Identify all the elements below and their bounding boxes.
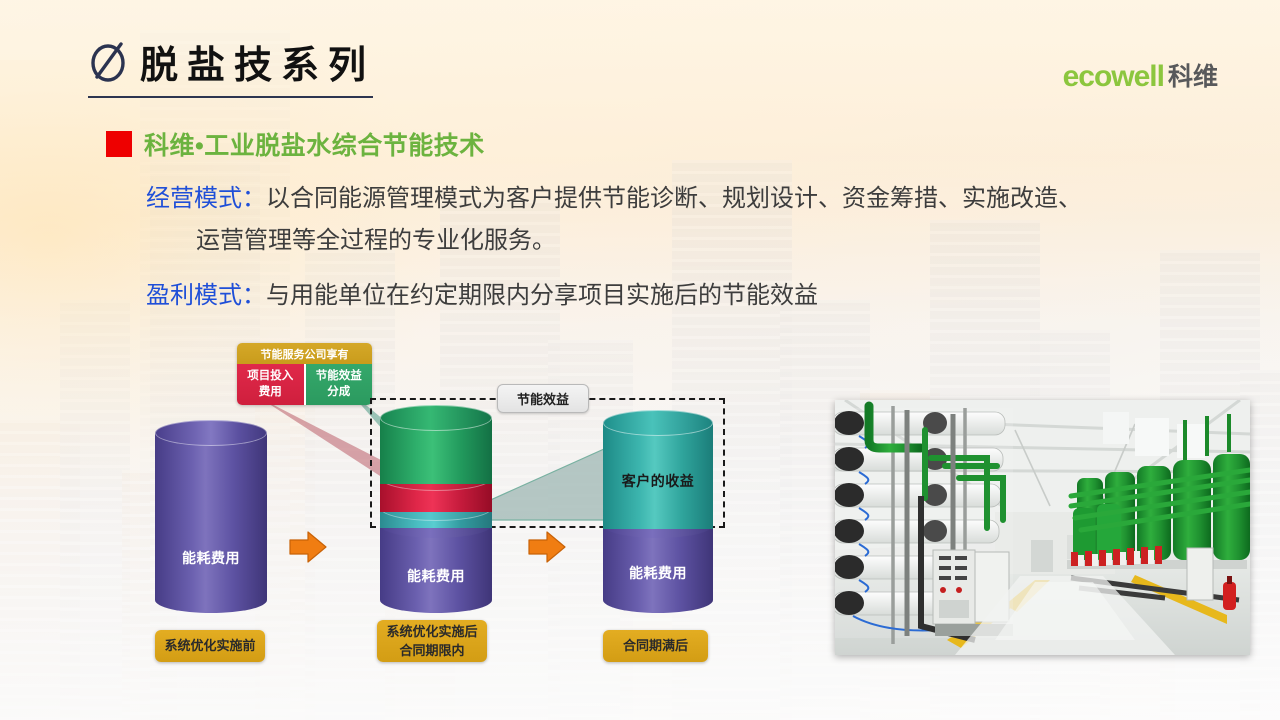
title-underline bbox=[88, 96, 373, 98]
caption-line1: 系统优化实施后 bbox=[386, 622, 477, 642]
paragraph-business-model: 经营模式：以合同能源管理模式为客户提供节能诊断、规划设计、资金筹措、实施改造、 bbox=[146, 180, 1082, 217]
circle-slash-icon bbox=[88, 38, 130, 84]
cylinder-label-energy-cost: 能耗费用 bbox=[380, 566, 492, 586]
legend-cells: 项目投入 费用 节能效益 分成 bbox=[237, 364, 372, 405]
legend-cell-line1: 项目投入 bbox=[247, 369, 293, 385]
logo-text-cn: 科维 bbox=[1168, 65, 1218, 90]
cylinder-segment-energy-cost bbox=[155, 433, 267, 613]
label-profit-model: 盈利模式 bbox=[146, 282, 242, 309]
cylinder-segment-savings-share bbox=[380, 418, 492, 484]
cylinder-before-optimization: 能耗费用 bbox=[155, 433, 267, 613]
region-label-energy-savings: 节能效益 bbox=[497, 384, 589, 413]
legend-cell-line2: 分成 bbox=[327, 385, 350, 401]
page-title: 脱盐技系列 bbox=[140, 34, 375, 89]
legend-cell-project-investment: 项目投入 费用 bbox=[237, 364, 306, 405]
arrow-right-icon bbox=[527, 530, 567, 564]
text-profit-model: 与用能单位在约定期限内分享项目实施后的节能效益 bbox=[266, 282, 818, 309]
plant-photo-image bbox=[835, 400, 1250, 655]
legend-cell-line1: 节能效益 bbox=[316, 369, 362, 385]
plant-photo bbox=[835, 400, 1250, 655]
legend-cell-line2: 费用 bbox=[259, 385, 282, 401]
cylinder-after-contract: 客户的收益 能耗费用 bbox=[603, 423, 713, 613]
cylinder-label-energy-cost: 能耗费用 bbox=[603, 563, 713, 583]
colon-2: ： bbox=[242, 282, 266, 309]
section-title: 科维•工业脱盐水综合节能技术 bbox=[144, 126, 485, 162]
caption-during-contract: 系统优化实施后 合同期限内 bbox=[377, 620, 487, 662]
logo-text-en: ecowell bbox=[1063, 62, 1164, 92]
red-square-bullet-icon bbox=[106, 131, 132, 157]
paragraph-business-model-line2: 运营管理等全过程的专业化服务。 bbox=[196, 222, 556, 259]
caption-after-contract: 合同期满后 bbox=[603, 630, 708, 662]
brand-logo: ecowell 科维 bbox=[1063, 62, 1218, 92]
caption-line1: 系统优化实施前 bbox=[164, 636, 255, 656]
legend-energy-service-company: 节能服务公司享有 项目投入 费用 节能效益 分成 bbox=[237, 343, 372, 405]
caption-before-optimization: 系统优化实施前 bbox=[155, 630, 265, 662]
cylinder-label-energy-cost: 能耗费用 bbox=[155, 548, 267, 568]
legend-cell-savings-share: 节能效益 分成 bbox=[306, 364, 373, 405]
caption-line2: 合同期限内 bbox=[399, 641, 464, 661]
cylinder-during-contract: 能耗费用 bbox=[380, 418, 492, 613]
arrow-right-icon bbox=[288, 530, 328, 564]
caption-line1: 合同期满后 bbox=[623, 636, 688, 656]
energy-savings-diagram: 节能服务公司享有 项目投入 费用 节能效益 分成 节能效益 能耗费用 bbox=[0, 330, 840, 670]
cylinder-label-customer-benefit: 客户的收益 bbox=[603, 471, 713, 491]
slide-root: 脱盐技系列 ecowell 科维 科维•工业脱盐水综合节能技术 经营模式：以合同… bbox=[0, 0, 1280, 720]
label-business-model: 经营模式 bbox=[146, 185, 242, 212]
legend-header: 节能服务公司享有 bbox=[237, 343, 372, 364]
colon-1: ： bbox=[242, 185, 266, 212]
section-heading: 科维•工业脱盐水综合节能技术 bbox=[106, 126, 485, 162]
paragraph-profit-model: 盈利模式：与用能单位在约定期限内分享项目实施后的节能效益 bbox=[146, 277, 818, 314]
text-business-model: 以合同能源管理模式为客户提供节能诊断、规划设计、资金筹措、实施改造、 bbox=[266, 185, 1082, 212]
